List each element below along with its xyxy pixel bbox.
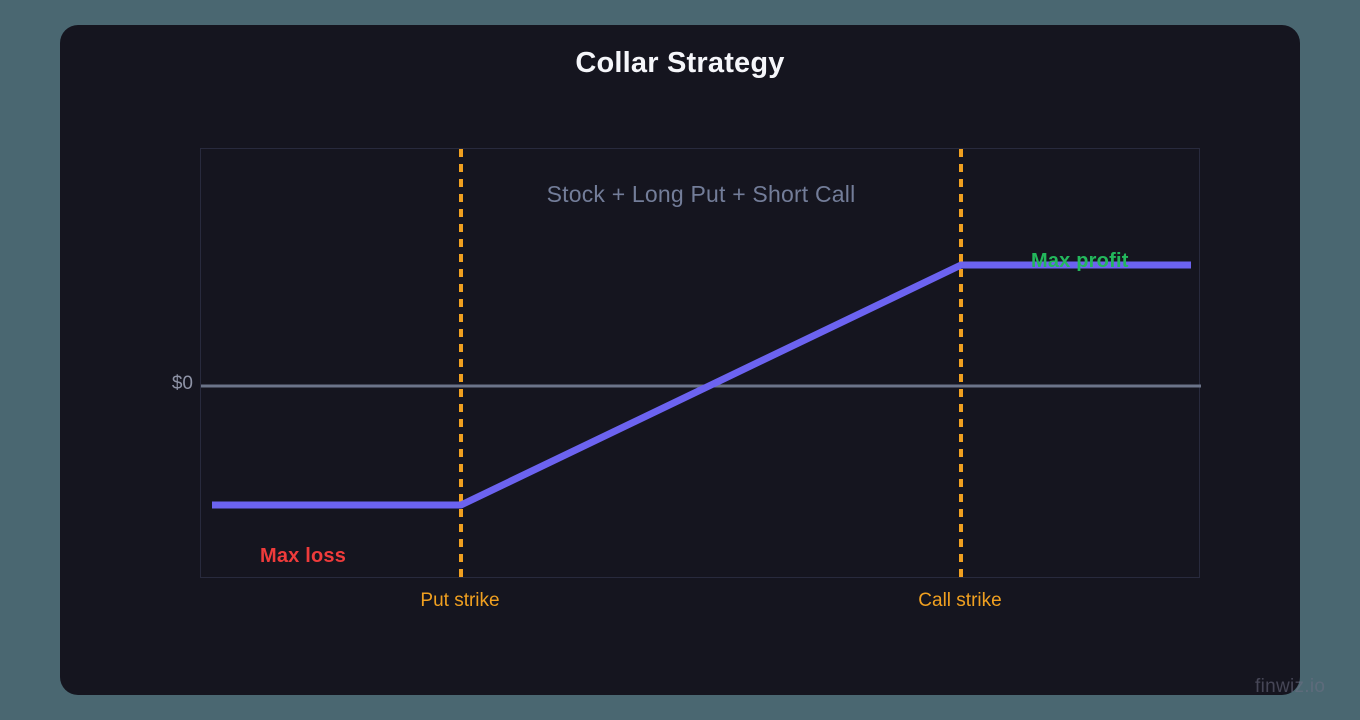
page-title: Collar Strategy [60,47,1300,80]
watermark: finwiz.io [1255,676,1325,698]
plot-area: Stock + Long Put + Short Call [200,148,1200,578]
max-loss-annotation: Max loss [260,545,346,568]
x-axis-tick-put-strike: Put strike [420,590,499,612]
chart-card: Collar Strategy $0 Stock + Long Put + Sh… [60,25,1300,695]
screenshot-root: Collar Strategy $0 Stock + Long Put + Sh… [0,0,1360,720]
payoff-plot-svg [201,149,1201,579]
y-axis-tick-zero: $0 [155,373,193,395]
max-profit-annotation: Max profit [1031,250,1129,273]
x-axis-tick-call-strike: Call strike [918,590,1001,612]
